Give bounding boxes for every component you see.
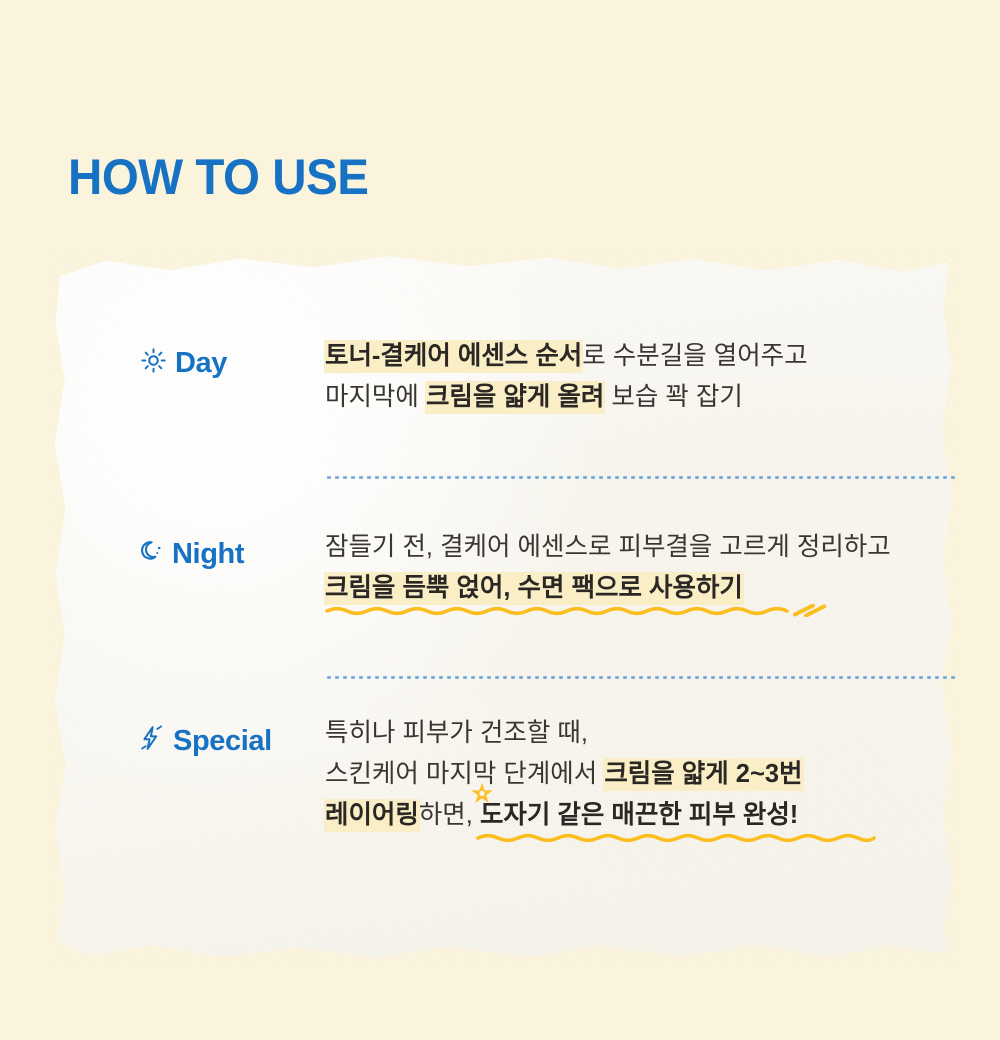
section-divider [325,476,956,479]
highlighted-text: 크림을 듬뿍 얹어, 수면 팩으로 사용하기 [325,573,743,604]
highlighted-text: 레이어링 [325,800,419,831]
section-label-night: Night [138,539,244,572]
section-label-text-night: Night [172,538,244,571]
plain-text: 마지막에 [325,383,426,411]
plain-text: 잠들기 전, 결케어 에센스로 피부결을 고르게 정리하고 [325,533,891,561]
section-label-day: Day [141,348,227,381]
text-line: 특히나 피부가 건조할 때, [325,713,803,754]
section-label-special: Special [139,725,272,759]
section-divider [325,676,956,679]
section-body-special: 특히나 피부가 건조할 때, 스킨케어 마지막 단계에서 크림을 얇게 2~3번… [325,713,803,836]
plain-text: 로 수분길을 열어주고 [582,342,807,370]
section-body-day: 토너-결케어 에센스 순서로 수분길을 열어주고 마지막에 크림을 얇게 올려 … [325,336,808,418]
text-line: 마지막에 크림을 얇게 올려 보습 꽉 잡기 [325,377,808,418]
highlighted-text: 크림을 얇게 올려 [426,382,604,413]
text-line: 레이어링하면, 도자기 같은 매끈한 피부 완성! [325,795,803,836]
plain-text: 보습 꽉 잡기 [604,383,743,411]
highlighted-text: 크림을 얇게 2~3번 [604,759,802,790]
section-label-text-special: Special [173,725,272,758]
plain-text: 특히나 피부가 건조할 때, [325,719,588,747]
section-label-text-day: Day [175,347,227,380]
text-line: 스킨케어 마지막 단계에서 크림을 얇게 2~3번 [325,754,803,795]
sun-icon [141,348,166,381]
plain-text: 하면, [419,801,480,829]
text-line: 잠들기 전, 결케어 에센스로 피부결을 고르게 정리하고 [325,527,891,568]
section-body-night: 잠들기 전, 결케어 에센스로 피부결을 고르게 정리하고 크림을 듬뿍 얹어,… [325,527,891,609]
paper-card: Day 토너-결케어 에센스 순서로 수분길을 열어주고 마지막에 크림을 얇게… [52,252,956,964]
highlighted-text: 토너-결케어 에센스 순서 [325,341,582,372]
plain-text: 스킨케어 마지막 단계에서 [325,760,604,788]
text-line: 토너-결케어 에센스 순서로 수분길을 열어주고 [325,336,808,377]
bold-text: 도자기 같은 매끈한 피부 완성! [480,801,798,829]
page-title: HOW TO USE [68,152,369,202]
lightning-bolt-icon [139,725,164,759]
text-line: 크림을 듬뿍 얹어, 수면 팩으로 사용하기 [325,568,891,609]
moon-icon [138,539,163,572]
